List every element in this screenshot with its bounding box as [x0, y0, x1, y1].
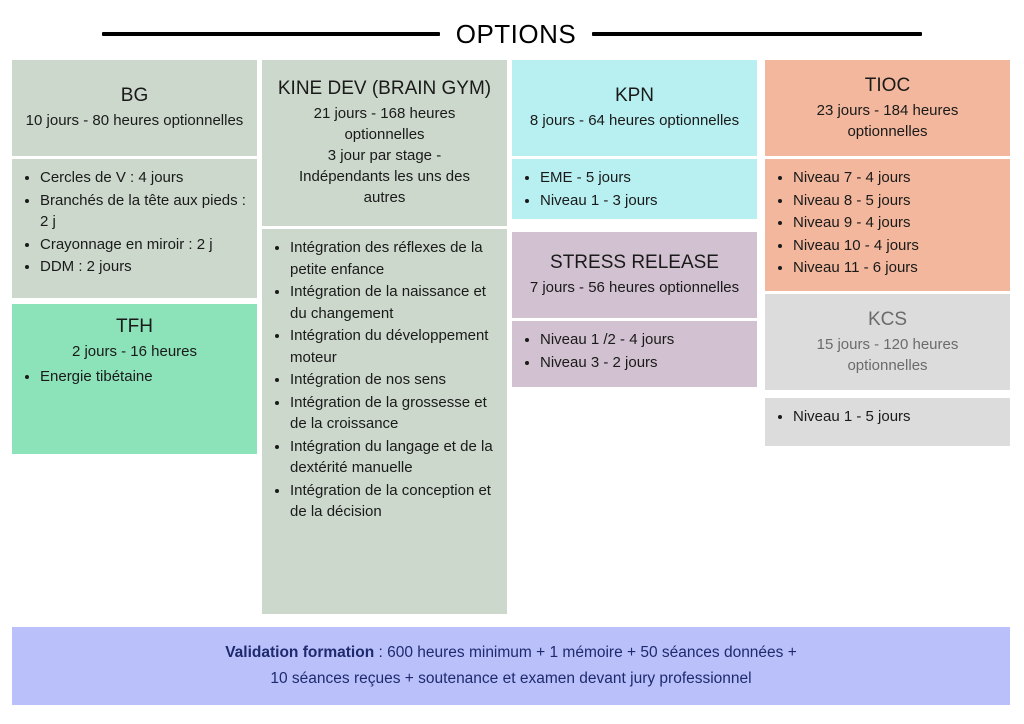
card-subtitle-kine-dev-line1: 21 jours - 168 heures: [314, 103, 456, 124]
list-bg: Cercles de V : 4 jours Branchés de la tê…: [18, 167, 247, 278]
card-header-tioc: TIOC 23 jours - 184 heures optionnelles: [765, 60, 1010, 156]
list-item: Intégration du développement moteur: [290, 325, 497, 368]
list-kine-dev: Intégration des réflexes de la petite en…: [268, 237, 497, 523]
list-item: Niveau 9 - 4 jours: [793, 212, 1000, 234]
card-header-kcs: KCS 15 jours - 120 heures optionnelles: [765, 294, 1010, 390]
card-subtitle-tfh: 2 jours - 16 heures: [72, 341, 197, 362]
list-tfh: Energie tibétaine: [18, 366, 247, 388]
card-body-kpn: EME - 5 jours Niveau 1 - 3 jours: [512, 159, 757, 219]
list-stress-release: Niveau 1 /2 - 4 jours Niveau 3 - 2 jours: [518, 329, 747, 373]
title-rule-right-icon: [592, 32, 922, 36]
list-item: Niveau 11 - 6 jours: [793, 257, 1000, 279]
list-item: Niveau 1 - 3 jours: [540, 190, 747, 212]
card-subtitle-kine-dev-line3: 3 jour par stage -: [328, 145, 441, 166]
card-title-kine-dev: KINE DEV (BRAIN GYM): [278, 76, 491, 101]
list-item: Intégration de la grossesse et de la cro…: [290, 392, 497, 435]
list-item: Intégration de la conception et de la dé…: [290, 480, 497, 523]
list-item: Niveau 1 /2 - 4 jours: [540, 329, 747, 351]
list-item: Branchés de la tête aux pieds : 2 j: [40, 190, 247, 233]
card-subtitle-stress-release: 7 jours - 56 heures optionnelles: [530, 277, 739, 298]
card-title-stress-release: STRESS RELEASE: [550, 250, 719, 275]
card-subtitle-kpn: 8 jours - 64 heures optionnelles: [530, 110, 739, 131]
options-diagram: OPTIONS BG 10 jours - 80 heures optionne…: [0, 0, 1024, 724]
card-title-kcs: KCS: [868, 307, 907, 332]
list-item: Cercles de V : 4 jours: [40, 167, 247, 189]
card-title-kpn: KPN: [615, 83, 654, 108]
title-rule-left-icon: [102, 32, 440, 36]
validation-line2: 10 séances reçues + soutenance et examen…: [270, 670, 751, 687]
card-subtitle-kine-dev-line5: autres: [364, 187, 406, 208]
list-item: EME - 5 jours: [540, 167, 747, 189]
list-item: Niveau 3 - 2 jours: [540, 352, 747, 374]
list-item: DDM : 2 jours: [40, 256, 247, 278]
card-body-bg: Cercles de V : 4 jours Branchés de la tê…: [12, 159, 257, 298]
card-title-bg: BG: [121, 83, 148, 108]
page-title: OPTIONS: [456, 19, 577, 50]
card-header-kpn: KPN 8 jours - 64 heures optionnelles: [512, 60, 757, 156]
list-item: Intégration de nos sens: [290, 369, 497, 391]
card-header-kine-dev: KINE DEV (BRAIN GYM) 21 jours - 168 heur…: [262, 60, 507, 226]
card-subtitle-tioc: 23 jours - 184 heures optionnelles: [775, 100, 1000, 142]
card-tfh: TFH 2 jours - 16 heures Energie tibétain…: [12, 304, 257, 454]
list-item: Crayonnage en miroir : 2 j: [40, 234, 247, 256]
validation-line1: : 600 heures minimum + 1 mémoire + 50 sé…: [374, 644, 797, 661]
card-body-kcs: Niveau 1 - 5 jours: [765, 398, 1010, 446]
list-kcs: Niveau 1 - 5 jours: [771, 406, 1000, 428]
card-header-stress-release: STRESS RELEASE 7 jours - 56 heures optio…: [512, 232, 757, 318]
card-subtitle-kine-dev-line2: optionnelles: [344, 124, 424, 145]
validation-banner: Validation formation : 600 heures minimu…: [12, 627, 1010, 705]
validation-text: Validation formation : 600 heures minimu…: [225, 640, 797, 692]
card-subtitle-kcs: 15 jours - 120 heures optionnelles: [775, 334, 1000, 376]
list-item: Intégration des réflexes de la petite en…: [290, 237, 497, 280]
validation-label: Validation formation: [225, 644, 374, 661]
list-tioc: Niveau 7 - 4 jours Niveau 8 - 5 jours Ni…: [771, 167, 1000, 279]
list-item: Niveau 1 - 5 jours: [793, 406, 1000, 428]
card-title-tfh: TFH: [116, 314, 153, 339]
card-title-tioc: TIOC: [865, 73, 910, 98]
card-body-kine-dev: Intégration des réflexes de la petite en…: [262, 229, 507, 614]
list-item: Energie tibétaine: [40, 366, 247, 388]
card-subtitle-bg: 10 jours - 80 heures optionnelles: [26, 110, 244, 131]
list-kpn: EME - 5 jours Niveau 1 - 3 jours: [518, 167, 747, 211]
list-item: Niveau 10 - 4 jours: [793, 235, 1000, 257]
list-item: Intégration de la naissance et du change…: [290, 281, 497, 324]
card-header-tfh: TFH 2 jours - 16 heures: [12, 304, 257, 364]
card-body-tioc: Niveau 7 - 4 jours Niveau 8 - 5 jours Ni…: [765, 159, 1010, 291]
card-subtitle-kine-dev-line4: Indépendants les uns des: [299, 166, 470, 187]
list-item: Intégration du langage et de la dextérit…: [290, 436, 497, 479]
card-body-stress-release: Niveau 1 /2 - 4 jours Niveau 3 - 2 jours: [512, 321, 757, 387]
card-header-bg: BG 10 jours - 80 heures optionnelles: [12, 60, 257, 156]
page-title-row: OPTIONS: [0, 12, 1024, 56]
list-item: Niveau 7 - 4 jours: [793, 167, 1000, 189]
list-item: Niveau 8 - 5 jours: [793, 190, 1000, 212]
card-body-tfh: Energie tibétaine: [12, 364, 257, 399]
